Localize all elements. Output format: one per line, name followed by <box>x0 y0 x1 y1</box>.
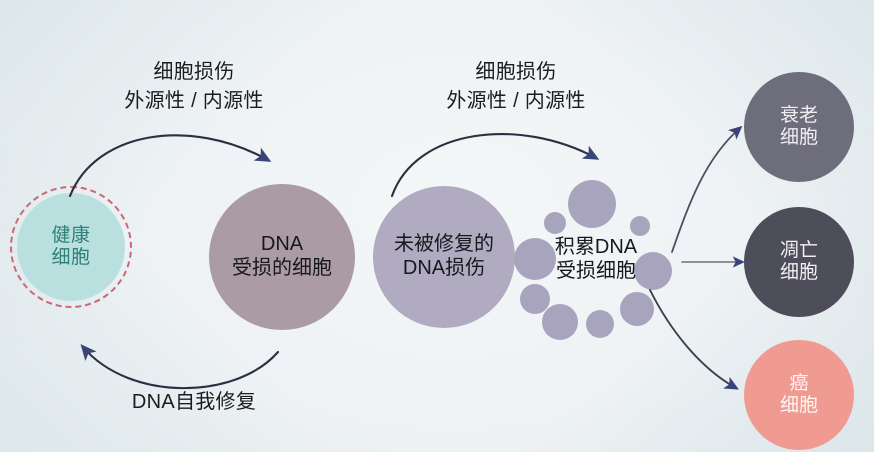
cluster-dot <box>630 216 650 236</box>
cluster-dot <box>544 212 566 234</box>
diagram-canvas: 健康 细胞 DNA 受损的细胞 未被修复的 DNA损伤 积累DNA 受损细胞 衰… <box>0 0 874 452</box>
cluster-dot <box>586 310 614 338</box>
cluster-dot <box>568 180 616 228</box>
cell-accumulated-damage-cluster: 积累DNA 受损细胞 <box>512 176 680 344</box>
cell-dna-damaged-label: DNA 受损的细胞 <box>232 233 332 280</box>
cluster-dot <box>634 252 672 290</box>
cell-healthy: 健康 细胞 <box>10 186 132 308</box>
label-cell-damage-left: 细胞损伤 外源性 / 内源性 <box>78 58 310 116</box>
cell-unrepaired-damage: 未被修复的 DNA损伤 <box>373 186 515 328</box>
arrow-dna-damaged-to-healthy <box>83 347 278 388</box>
cell-apoptotic: 凋亡 细胞 <box>744 207 854 317</box>
cell-cancer-label: 癌 细胞 <box>780 373 818 418</box>
label-dna-self-repair: DNA自我修复 <box>78 388 310 417</box>
cell-senescent: 衰老 细胞 <box>744 72 854 182</box>
cell-accumulated-label: 积累DNA 受损细胞 <box>555 236 637 283</box>
cluster-dot <box>514 238 556 280</box>
cell-cancer: 癌 细胞 <box>744 340 854 450</box>
cell-unrepaired-label: 未被修复的 DNA损伤 <box>394 233 494 280</box>
cell-senescent-label: 衰老 细胞 <box>780 105 818 150</box>
cell-healthy-label: 健康 细胞 <box>51 225 90 270</box>
arrow-accumulated-to-senescent <box>672 128 740 252</box>
cluster-dot <box>542 304 578 340</box>
cell-apoptotic-label: 凋亡 细胞 <box>780 240 818 285</box>
cluster-dot <box>620 292 654 326</box>
cell-dna-damaged: DNA 受损的细胞 <box>209 184 355 330</box>
label-cell-damage-right: 细胞损伤 外源性 / 内源性 <box>400 58 632 116</box>
